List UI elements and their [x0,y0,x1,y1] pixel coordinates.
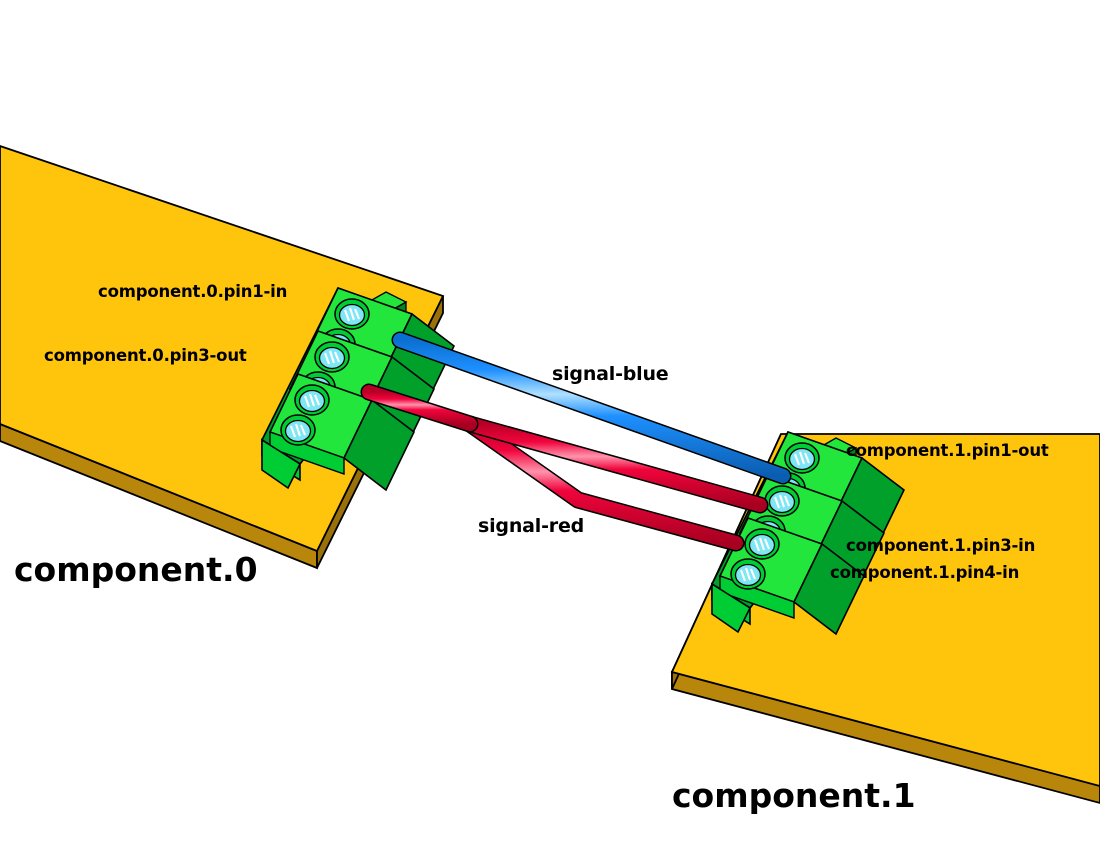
pin-label-component-1-pin4-in: component.1.pin4-in [830,565,1019,582]
pin-label-component-1-pin3-in: component.1.pin3-in [846,538,1035,555]
pin-label-component-1-pin1-out: component.1.pin1-out [846,443,1049,460]
pin-label-component-0-pin3-out: component.0.pin3-out [44,348,247,365]
scene-svg [0,0,1100,850]
diagram-canvas: component.0.pin1-in component.0.pin3-out… [0,0,1100,850]
board-label-component-0: component.0 [14,553,258,586]
board-label-component-1: component.1 [672,779,916,812]
pin-label-component-0-pin1-in: component.0.pin1-in [98,284,287,301]
signal-label-signal-blue: signal-blue [552,365,669,384]
signal-label-signal-red: signal-red [478,517,584,536]
